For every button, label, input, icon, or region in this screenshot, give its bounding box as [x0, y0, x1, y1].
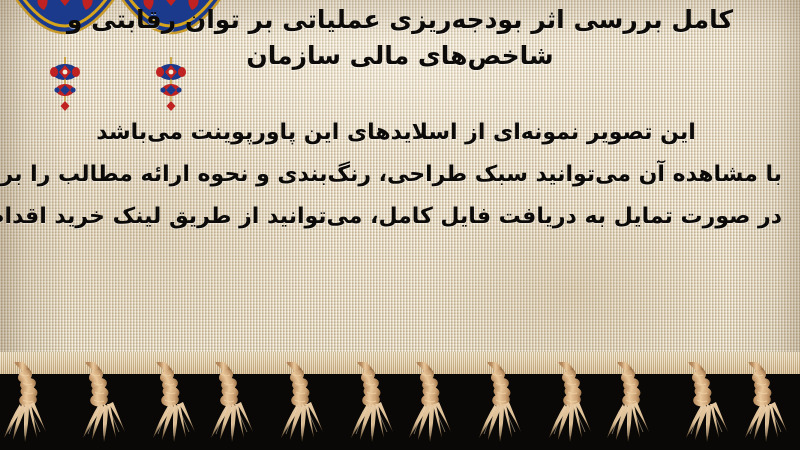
- carpet-tassel: [734, 362, 790, 450]
- carpet-tassel: [402, 362, 458, 450]
- body-line-3: در صورت تمایل به دریافت فایل کامل، می‌تو…: [10, 196, 782, 238]
- carpet-tassel: [142, 362, 198, 450]
- carpet-tassel: [272, 362, 328, 450]
- carpet-tassel: [473, 362, 529, 450]
- carpet-tassel: [0, 362, 56, 450]
- slide-canvas: کامل بررسی اثر بودجه‌ریزی عملیاتی بر توا…: [0, 0, 800, 450]
- carpet-tassel: [544, 362, 600, 450]
- carpet-tassel: [674, 362, 730, 450]
- body-line-1: این تصویر نمونه‌ای از اسلایدهای این پاور…: [10, 112, 782, 154]
- slide-title: کامل بررسی اثر بودجه‌ریزی عملیاتی بر توا…: [0, 2, 800, 74]
- carpet-fringe: [0, 362, 800, 450]
- carpet-tassel: [603, 362, 659, 450]
- carpet-tassel: [343, 362, 399, 450]
- slide-title-line-1: کامل بررسی اثر بودجه‌ریزی عملیاتی بر توا…: [34, 2, 766, 38]
- carpet-tassel: [71, 362, 127, 450]
- slide-body-text: این تصویر نمونه‌ای از اسلایدهای این پاور…: [0, 112, 800, 238]
- carpet-tassel: [201, 362, 257, 450]
- slide-title-line-2: شاخص‌های مالی سازمان: [34, 38, 766, 74]
- body-line-2: با مشاهده آن می‌توانید سبک طراحی، رنگ‌بن…: [10, 154, 782, 196]
